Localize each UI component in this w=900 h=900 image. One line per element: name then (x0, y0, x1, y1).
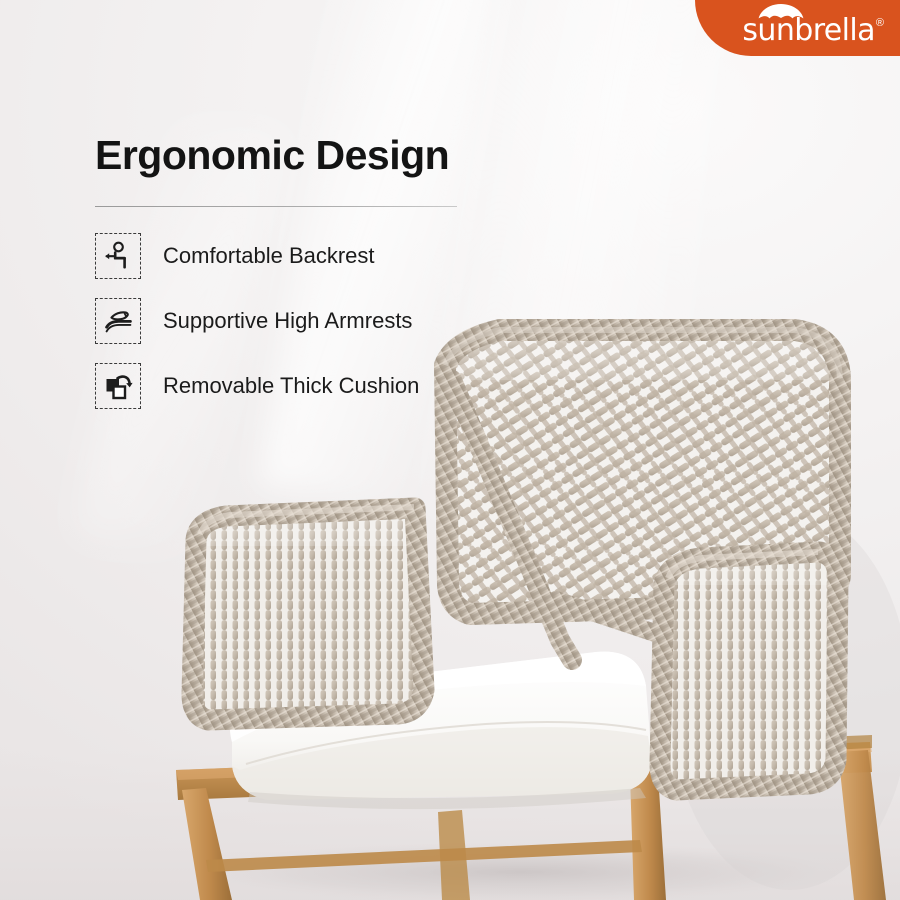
brand-name: sunbrella (742, 16, 875, 46)
registered-trademark-symbol: ® (876, 18, 884, 29)
arm-on-armrest-icon (102, 305, 134, 337)
feature-item-removable-thick-cushion: Removable Thick Cushion (95, 361, 419, 411)
left-armrest (180, 500, 440, 730)
icon-box (95, 298, 141, 344)
title-divider (95, 206, 457, 207)
seated-person-backrest-icon (102, 240, 134, 272)
feature-item-supportive-high-armrests: Supportive High Armrests (95, 296, 419, 346)
feature-label: Supportive High Armrests (163, 308, 412, 334)
page-title: Ergonomic Design (95, 132, 449, 179)
brand-lockup: sunbrella ® (742, 16, 884, 46)
feature-label: Comfortable Backrest (163, 243, 375, 269)
feature-item-comfortable-backrest: Comfortable Backrest (95, 231, 419, 281)
feature-label: Removable Thick Cushion (163, 373, 419, 399)
icon-box (95, 363, 141, 409)
swap-squares-arrow-icon (102, 370, 134, 402)
product-feature-banner: sunbrella ® Ergonomic Design Comfortable… (0, 0, 900, 900)
umbrella-icon (758, 3, 804, 20)
icon-box (95, 233, 141, 279)
brand-badge: sunbrella ® (695, 0, 900, 56)
right-armrest (650, 545, 850, 795)
feature-list: Comfortable Backrest Supportive High Arm… (95, 231, 419, 426)
